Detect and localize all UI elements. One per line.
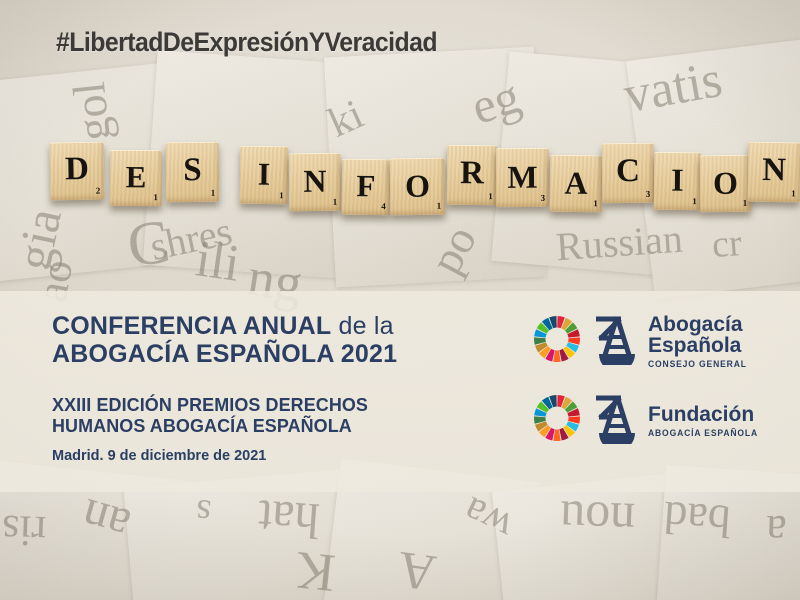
tile-points: 2 bbox=[96, 187, 101, 196]
scrabble-tile: F4 bbox=[342, 159, 391, 215]
logo-fundacion-abogacia: Fundación ABOGACÍA ESPAÑOLA bbox=[533, 392, 764, 449]
sdg-color-wheel-icon bbox=[533, 394, 581, 447]
scrabble-tile: S1 bbox=[166, 142, 220, 203]
tile-points: 1 bbox=[692, 197, 697, 206]
tile-points: 1 bbox=[153, 193, 158, 202]
tile-letter: I bbox=[240, 157, 288, 190]
scrabble-tile: R1 bbox=[447, 145, 498, 205]
scrabble-tiles-row: D2E1S1I1N1F4O1R1M3A1C3I1O1N1 bbox=[0, 128, 800, 224]
tile-letter: C bbox=[602, 155, 654, 189]
subtitle-line-2: HUMANOS ABOGACÍA ESPAÑOLA bbox=[52, 415, 368, 436]
scrabble-tile: D2 bbox=[49, 142, 104, 201]
title-line-2: ABOGACÍA ESPAÑOLA 2021 bbox=[52, 340, 397, 368]
logo-abogacia-line-1: Abogacía bbox=[648, 314, 752, 335]
scrap-letter: Russian bbox=[555, 222, 684, 265]
tile-letter: M bbox=[496, 160, 549, 192]
tile-points: 1 bbox=[593, 199, 598, 208]
logo-abogacia-text: Abogacía Española CONSEJO GENERAL bbox=[648, 314, 752, 369]
tile-letter: F bbox=[342, 170, 390, 202]
scrap-letter: cr bbox=[711, 227, 743, 261]
tile-points: 1 bbox=[488, 192, 493, 201]
tile-points: 1 bbox=[743, 199, 748, 208]
subtitle-line-1: XXIII EDICIÓN PREMIOS DERECHOS bbox=[52, 394, 368, 415]
scrabble-tile: N1 bbox=[748, 142, 800, 203]
scrabble-tile: C3 bbox=[602, 143, 655, 204]
tile-points: 1 bbox=[211, 189, 216, 198]
logo-abogacia-line-2: Española bbox=[648, 335, 752, 356]
scrap-letter: A bbox=[395, 546, 438, 595]
tile-points: 3 bbox=[541, 194, 546, 203]
logo-abogacia-tagline: CONSEJO GENERAL bbox=[648, 359, 747, 369]
tile-points: 1 bbox=[279, 191, 284, 200]
scrabble-tile: M3 bbox=[496, 148, 549, 207]
tile-letter: S bbox=[166, 154, 219, 188]
tile-letter: I bbox=[654, 164, 701, 196]
scrabble-tile: O1 bbox=[390, 158, 446, 216]
tile-letter: N bbox=[748, 154, 800, 188]
tile-letter: A bbox=[550, 166, 602, 199]
tile-points: 1 bbox=[791, 189, 796, 198]
tile-points: 1 bbox=[333, 198, 338, 207]
tile-letter: D bbox=[50, 153, 105, 187]
tile-points: 3 bbox=[646, 190, 651, 199]
tile-letter: E bbox=[110, 161, 162, 192]
tile-letter: R bbox=[447, 157, 497, 190]
tile-letter: O bbox=[700, 166, 751, 198]
scrabble-tile: A1 bbox=[550, 155, 603, 213]
event-subtitle: XXIII EDICIÓN PREMIOS DERECHOS HUMANOS A… bbox=[52, 394, 378, 437]
scrabble-tile: I1 bbox=[654, 152, 702, 210]
event-title: CONFERENCIA ANUAL de la ABOGACÍA ESPAÑOL… bbox=[52, 312, 397, 368]
scrabble-tile: E1 bbox=[110, 150, 162, 206]
scrap-letter: ili bbox=[193, 237, 242, 287]
title-light: de la bbox=[331, 312, 393, 340]
title-line-1: CONFERENCIA ANUAL de la bbox=[52, 312, 397, 340]
campaign-hashtag: #LibertadDeExpresiónYVeracidad bbox=[56, 27, 437, 58]
title-strong: CONFERENCIA ANUAL bbox=[52, 312, 331, 340]
scrap-letter: a bbox=[765, 512, 787, 552]
scrap-letter: hat bbox=[257, 496, 321, 543]
tile-points: 4 bbox=[381, 202, 386, 211]
scrap-letter: K bbox=[294, 546, 338, 596]
scrabble-tile: I1 bbox=[240, 146, 289, 205]
event-poster: giaaogolCshresilingkiegpoRussiancrvatisr… bbox=[0, 0, 800, 600]
logo-fundacion-line-1: Fundación bbox=[648, 404, 764, 425]
za-scales-monogram-icon bbox=[591, 392, 637, 449]
scrap-letter: vatis bbox=[621, 58, 725, 119]
scrap-letter: ris bbox=[1, 511, 46, 550]
tile-points: 1 bbox=[437, 202, 442, 211]
scrap-letter: nou bbox=[559, 497, 635, 542]
scrabble-tile: N1 bbox=[289, 153, 342, 211]
sdg-color-wheel-icon bbox=[533, 315, 581, 368]
logo-abogacia-espanola: Abogacía Española CONSEJO GENERAL bbox=[533, 313, 752, 370]
scrap-letter: bad bbox=[663, 498, 732, 542]
tile-letter: O bbox=[390, 169, 445, 202]
tile-letter: N bbox=[289, 164, 341, 196]
za-scales-monogram-icon bbox=[591, 313, 637, 370]
scrabble-tile: O1 bbox=[700, 155, 751, 212]
event-date-location: Madrid. 9 de diciembre de 2021 bbox=[52, 448, 266, 464]
logo-fundacion-text: Fundación ABOGACÍA ESPAÑOLA bbox=[648, 404, 764, 438]
logo-fundacion-tagline: ABOGACÍA ESPAÑOLA bbox=[648, 428, 758, 438]
